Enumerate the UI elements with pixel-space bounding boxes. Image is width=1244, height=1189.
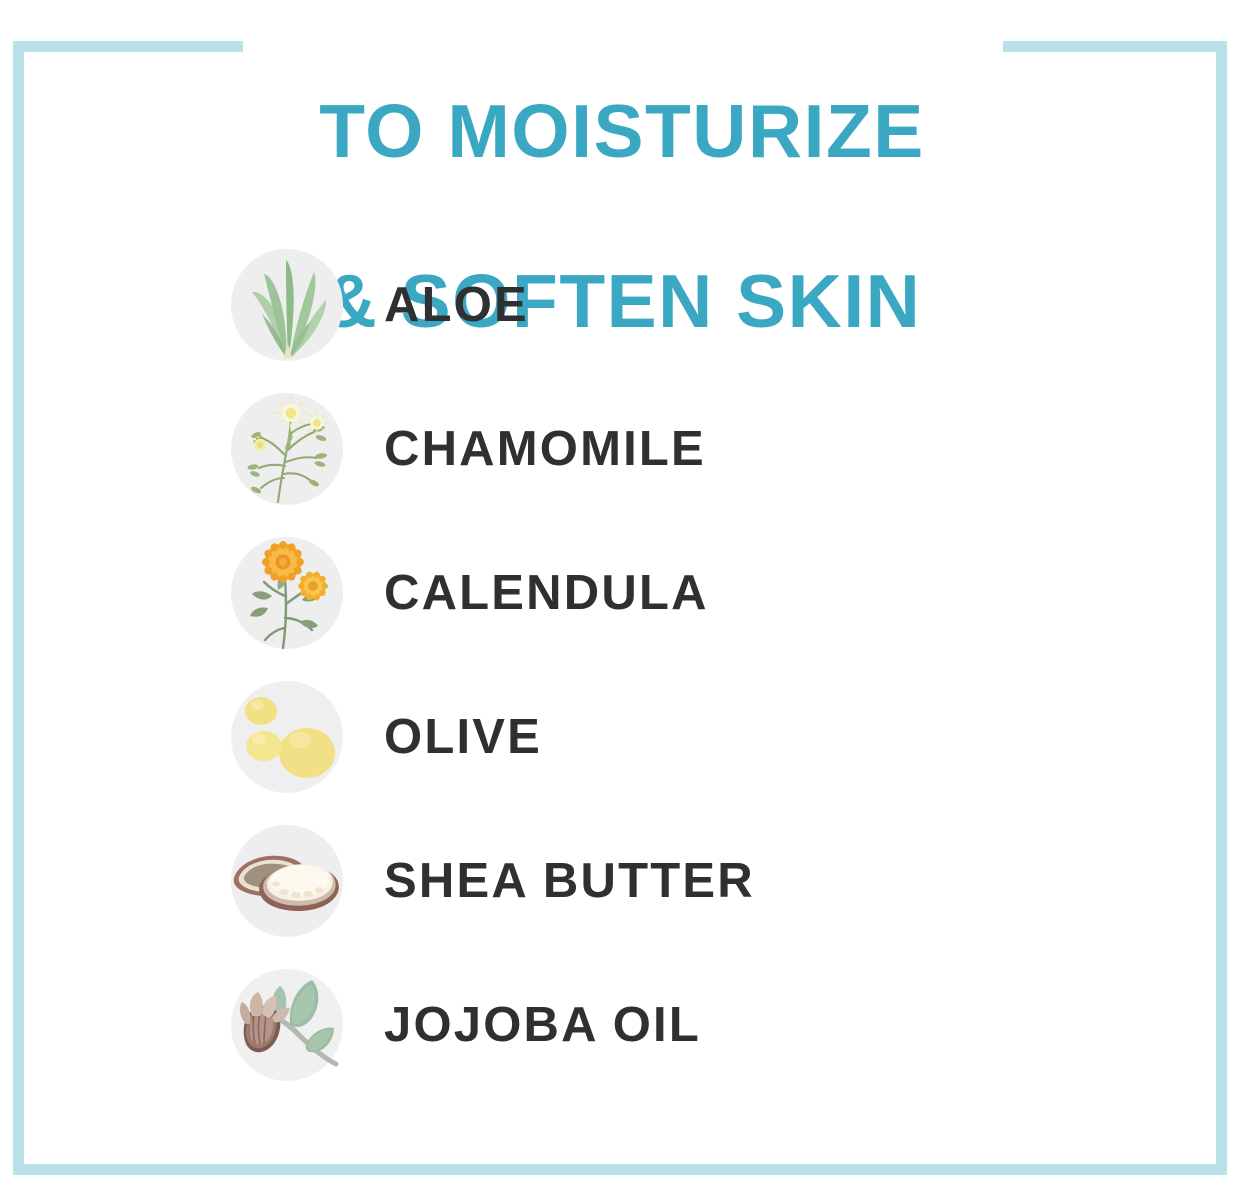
chamomile-flower-icon	[228, 390, 346, 508]
page-title-line-1: TO MOISTURIZE	[0, 89, 1244, 174]
list-item: JOJOBA OIL	[228, 953, 1128, 1097]
olive-oil-drops-icon	[228, 678, 346, 796]
list-item: CALENDULA	[228, 521, 1128, 665]
list-item-label: JOJOBA OIL	[384, 997, 701, 1053]
shea-butter-nut-icon	[228, 822, 346, 940]
list-item-label: CALENDULA	[384, 565, 709, 621]
list-item: CHAMOMILE	[228, 377, 1128, 521]
aloe-plant-icon	[228, 246, 346, 364]
list-item-label: CHAMOMILE	[384, 421, 706, 477]
ingredient-benefits-panel: TO MOISTURIZE & SOFTEN SKIN	[0, 0, 1244, 1189]
list-item: OLIVE	[228, 665, 1128, 809]
list-item: ALOE	[228, 233, 1128, 377]
list-item-label: SHEA BUTTER	[384, 853, 755, 909]
list-item-label: OLIVE	[384, 709, 542, 765]
calendula-flower-icon	[228, 534, 346, 652]
ingredient-list: ALOE	[228, 233, 1128, 1097]
list-item: SHEA BUTTER	[228, 809, 1128, 953]
list-item-label: ALOE	[384, 277, 529, 333]
jojoba-seed-leaf-icon	[228, 966, 346, 1084]
